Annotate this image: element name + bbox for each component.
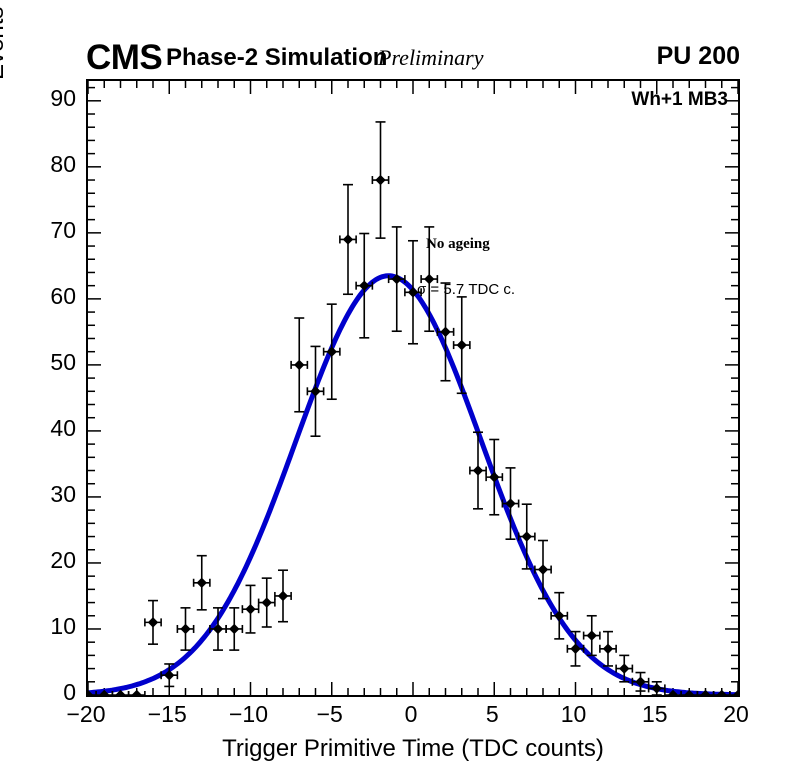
marker-diamond	[148, 617, 158, 627]
data-point	[649, 682, 665, 695]
data-point	[389, 227, 405, 331]
marker-diamond	[245, 604, 255, 614]
data-points	[88, 122, 738, 695]
x-axis-title: Trigger Primitive Time (TDC counts)	[86, 735, 740, 763]
x-tick-label: 0	[371, 703, 451, 726]
x-tick-label: −15	[127, 703, 207, 726]
x-tick-label: 15	[615, 703, 695, 726]
marker-diamond	[343, 234, 353, 244]
marker-diamond	[473, 465, 483, 475]
data-point	[519, 504, 535, 569]
cms-logo-text: CMS	[86, 40, 162, 75]
y-tick-label: 30	[16, 483, 76, 506]
data-point	[486, 439, 502, 514]
marker-diamond	[375, 175, 385, 185]
data-point	[535, 541, 551, 599]
data-point	[177, 608, 193, 650]
plot-canvas: CMS Phase-2 Simulation Preliminary PU 20…	[0, 0, 796, 772]
marker-diamond	[457, 340, 467, 350]
y-tick-label: 50	[16, 351, 76, 374]
ageing-label: No ageing	[426, 236, 490, 253]
marker-diamond	[180, 624, 190, 634]
y-axis-title: Events	[0, 0, 10, 80]
data-point	[372, 122, 388, 238]
marker-diamond	[538, 564, 548, 574]
x-tick-label: 10	[534, 703, 614, 726]
data-point	[226, 608, 242, 650]
x-tick-label: 20	[696, 703, 776, 726]
x-tick-label: −5	[290, 703, 370, 726]
marker-diamond	[132, 690, 142, 695]
x-tick-label: 5	[452, 703, 532, 726]
marker-diamond	[522, 531, 532, 541]
data-point	[291, 318, 307, 412]
marker-diamond	[262, 597, 272, 607]
simulation-label: Phase-2 Simulation	[166, 46, 387, 70]
y-tick-label: 90	[16, 87, 76, 110]
y-tick-label: 10	[16, 615, 76, 638]
x-tick-label: −20	[46, 703, 126, 726]
data-point	[340, 185, 356, 295]
data-point	[600, 632, 616, 666]
x-tick-label: −10	[209, 703, 289, 726]
data-point	[129, 690, 145, 695]
marker-diamond	[619, 663, 629, 673]
marker-diamond	[197, 578, 207, 588]
data-point	[259, 578, 275, 627]
data-point	[145, 601, 161, 645]
marker-diamond	[587, 630, 597, 640]
marker-diamond	[278, 591, 288, 601]
y-tick-label: 60	[16, 285, 76, 308]
plot-graphics	[88, 81, 738, 695]
y-tick-label: 80	[16, 153, 76, 176]
y-tick-label: 20	[16, 549, 76, 572]
data-point	[324, 304, 340, 399]
y-tick-label: 70	[16, 219, 76, 242]
plot-frame: Wh+1 MB3 No ageing σ = 5.7 TDC c.	[86, 79, 740, 697]
data-point	[356, 234, 372, 338]
cms-header: CMS Phase-2 Simulation Preliminary PU 20…	[0, 0, 796, 79]
data-point	[210, 608, 226, 650]
marker-diamond	[603, 644, 613, 654]
y-tick-label: 40	[16, 417, 76, 440]
marker-diamond	[652, 683, 662, 693]
pileup-label: PU 200	[657, 44, 740, 69]
data-point	[307, 346, 323, 436]
sigma-label: σ = 5.7 TDC c.	[417, 281, 515, 298]
marker-diamond	[294, 360, 304, 370]
data-point	[551, 593, 567, 639]
marker-diamond	[229, 624, 239, 634]
chamber-label: Wh+1 MB3	[631, 89, 728, 111]
data-point	[194, 556, 210, 610]
data-point	[275, 570, 291, 621]
data-point	[242, 585, 258, 633]
preliminary-label: Preliminary	[378, 47, 484, 69]
axis-ticks	[88, 81, 738, 695]
